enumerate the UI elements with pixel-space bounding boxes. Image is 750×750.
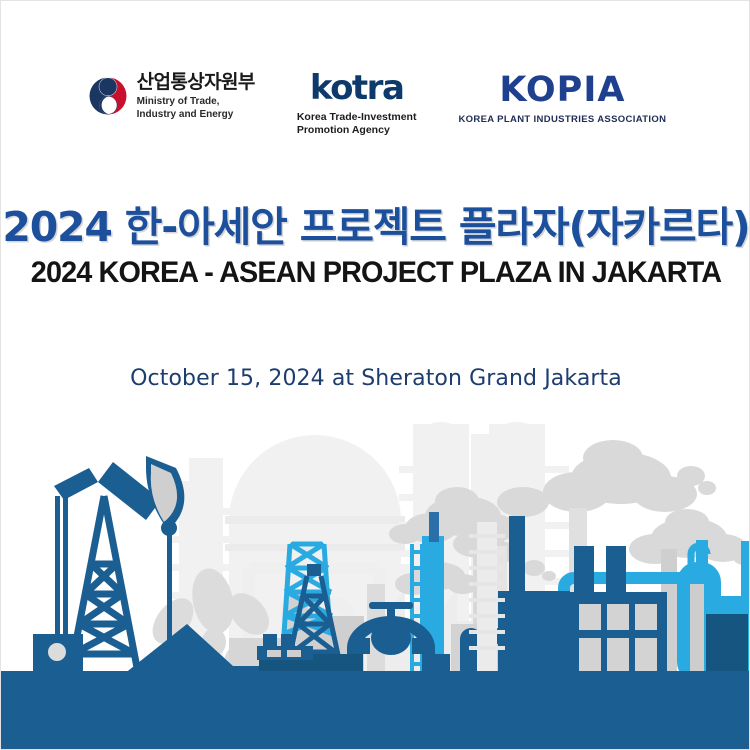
- logo-kopia: KOPIA KOREA PLANT INDUSTRIES ASSOCIATION: [458, 69, 666, 125]
- kotra-wordmark: kotra: [310, 71, 404, 105]
- logo-bar: 산업통상자원부 Ministry of Trade, Industry and …: [1, 69, 750, 149]
- gray-right-stack: [690, 584, 704, 682]
- kotra-subtitle-line-1: Korea Trade-Investment: [297, 111, 417, 124]
- taegeuk-mark-icon: [86, 74, 130, 118]
- kotra-subtitle-line-2: Promotion Agency: [297, 124, 417, 137]
- ministry-logo-text: 산업통상자원부 Ministry of Trade, Industry and …: [137, 69, 255, 122]
- logo-ministry-of-trade-industry-and-energy: 산업통상자원부 Ministry of Trade, Industry and …: [86, 69, 255, 122]
- ministry-english-line-2: Industry and Energy: [137, 109, 255, 122]
- poster-canvas: 산업통상자원부 Ministry of Trade, Industry and …: [0, 0, 750, 750]
- kopia-subtitle: KOREA PLANT INDUSTRIES ASSOCIATION: [458, 114, 666, 125]
- ministry-english-line-1: Ministry of Trade,: [137, 96, 255, 109]
- kopia-wordmark: KOPIA: [499, 73, 625, 108]
- event-date-venue: October 15, 2024 at Sheraton Grand Jakar…: [1, 366, 750, 391]
- korean-title: 2024 한-아세안 프로젝트 플라자(자카르타): [1, 193, 750, 253]
- logo-kotra: kotra Korea Trade-Investment Promotion A…: [297, 69, 417, 137]
- footer-band: [1, 671, 750, 749]
- ministry-korean-name: 산업통상자원부: [137, 73, 255, 93]
- english-title: 2024 KOREA - ASEAN PROJECT PLAZA IN JAKA…: [16, 256, 736, 290]
